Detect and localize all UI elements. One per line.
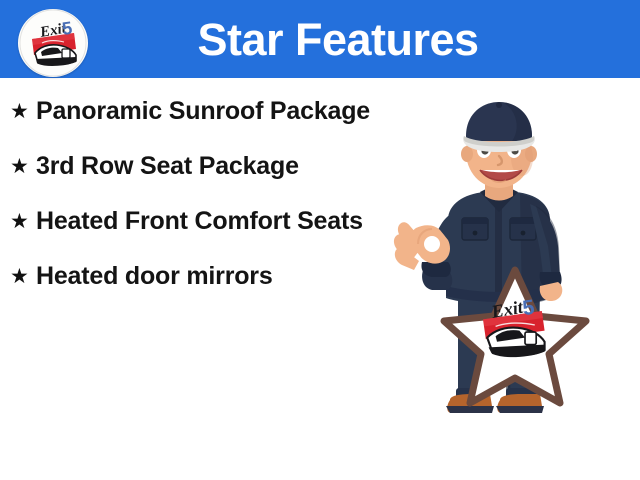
page-header: Exit 5 Star Features [0, 0, 640, 78]
feature-label: Heated door mirrors [36, 261, 390, 291]
mechanic-illustration: Exit 5 [380, 100, 640, 440]
star-bullet-icon: ★ [10, 151, 36, 182]
feature-label: Heated Front Comfort Seats [36, 206, 390, 236]
list-item: ★ Panoramic Sunroof Package [10, 96, 390, 127]
star-features-list: ★ Panoramic Sunroof Package ★ 3rd Row Se… [10, 96, 390, 292]
exit5-logo: Exit 5 [18, 9, 88, 77]
list-item: ★ Heated Front Comfort Seats [10, 206, 390, 237]
feature-label: 3rd Row Seat Package [36, 151, 390, 181]
star-bullet-icon: ★ [10, 261, 36, 292]
star-bullet-icon: ★ [10, 206, 36, 237]
exit5-logo-icon: Exit 5 [18, 9, 88, 77]
list-item: ★ Heated door mirrors [10, 261, 390, 292]
mechanic-with-star-icon: Exit 5 [380, 100, 640, 440]
list-item: ★ 3rd Row Seat Package [10, 151, 390, 182]
feature-label: Panoramic Sunroof Package [36, 96, 390, 126]
page-title: Star Features [0, 0, 640, 78]
star-bullet-icon: ★ [10, 96, 36, 127]
